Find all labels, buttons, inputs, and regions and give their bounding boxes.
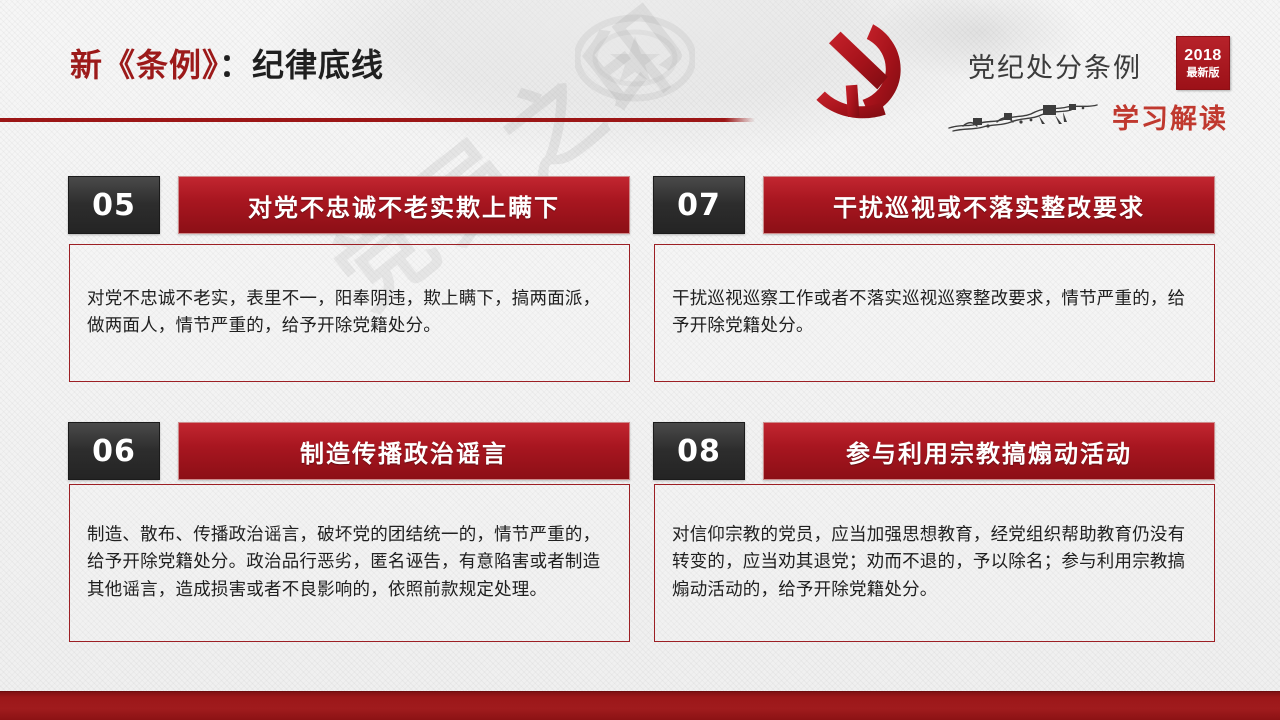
footer-bar (0, 691, 1280, 720)
brand-title: 党纪处分条例 (968, 46, 1142, 85)
clause-body-box: 对信仰宗教的党员，应当加强思想教育，经党组织帮助教育仍没有转变的，应当劝其退党；… (654, 484, 1215, 642)
page-title: 新《条例》：纪律底线 (70, 40, 384, 86)
clause-body-text: 对信仰宗教的党员，应当加强思想教育，经党组织帮助教育仍没有转变的，应当劝其退党；… (655, 522, 1214, 603)
clause-card-08[interactable]: 08 参与利用宗教搞煽动活动 对信仰宗教的党员，应当加强思想教育，经党组织帮助教… (653, 422, 1215, 478)
clause-body-box: 制造、散布、传播政治谣言，破坏党的团结统一的，情节严重的，给予开除党籍处分。政治… (69, 484, 630, 642)
clause-body-box: 对党不忠诚不老实，表里不一，阳奉阴违，欺上瞒下，搞两面派，做两面人，情节严重的，… (69, 244, 630, 382)
clause-body-box: 干扰巡视巡察工作或者不落实巡视巡察整改要求，情节严重的，给予开除党籍处分。 (654, 244, 1215, 382)
clause-number-badge: 05 (68, 176, 160, 234)
star-emblem-watermark-icon (575, 10, 695, 120)
edition-badge-year: 2018 (1184, 48, 1222, 64)
edition-badge: 2018 最新版 (1176, 36, 1230, 90)
edition-badge-version: 最新版 (1187, 67, 1220, 78)
page-title-dark: ：纪律底线 (219, 46, 384, 84)
clause-title-bar: 干扰巡视或不落实整改要求 (763, 176, 1215, 234)
clause-body-text: 制造、散布、传播政治谣言，破坏党的团结统一的，情节严重的，给予开除党籍处分。政治… (70, 522, 629, 603)
clause-body-text: 干扰巡视巡察工作或者不落实巡视巡察整改要求，情节严重的，给予开除党籍处分。 (655, 286, 1214, 340)
clause-card-header: 06 制造传播政治谣言 (68, 422, 630, 478)
clause-title-bar: 制造传播政治谣言 (178, 422, 630, 480)
great-wall-ink-icon (943, 96, 1103, 140)
hammer-sickle-icon (808, 18, 913, 123)
clause-card-header: 05 对党不忠诚不老实欺上瞒下 (68, 176, 630, 232)
clause-card-05[interactable]: 05 对党不忠诚不老实欺上瞒下 对党不忠诚不老实，表里不一，阳奉阴违，欺上瞒下，… (68, 176, 630, 232)
clause-title-bar: 参与利用宗教搞煽动活动 (763, 422, 1215, 480)
header-subtitle: 学习解读 (1112, 97, 1228, 136)
page-title-red: 新《条例》 (70, 46, 219, 84)
clause-body-text: 对党不忠诚不老实，表里不一，阳奉阴违，欺上瞒下，搞两面派，做两面人，情节严重的，… (70, 286, 629, 340)
clause-number-badge: 06 (68, 422, 160, 480)
clause-number-badge: 07 (653, 176, 745, 234)
clause-number-badge: 08 (653, 422, 745, 480)
clause-card-header: 08 参与利用宗教搞煽动活动 (653, 422, 1215, 478)
clause-card-07[interactable]: 07 干扰巡视或不落实整改要求 干扰巡视巡察工作或者不落实巡视巡察整改要求，情节… (653, 176, 1215, 232)
clause-title-bar: 对党不忠诚不老实欺上瞒下 (178, 176, 630, 234)
clause-card-06[interactable]: 06 制造传播政治谣言 制造、散布、传播政治谣言，破坏党的团结统一的，情节严重的… (68, 422, 630, 478)
slide-canvas: 党员之印 新《条例》：纪律底线 党纪处分条例 2018 最新版 (0, 0, 1280, 720)
header-divider (0, 118, 755, 122)
clause-card-header: 07 干扰巡视或不落实整改要求 (653, 176, 1215, 232)
